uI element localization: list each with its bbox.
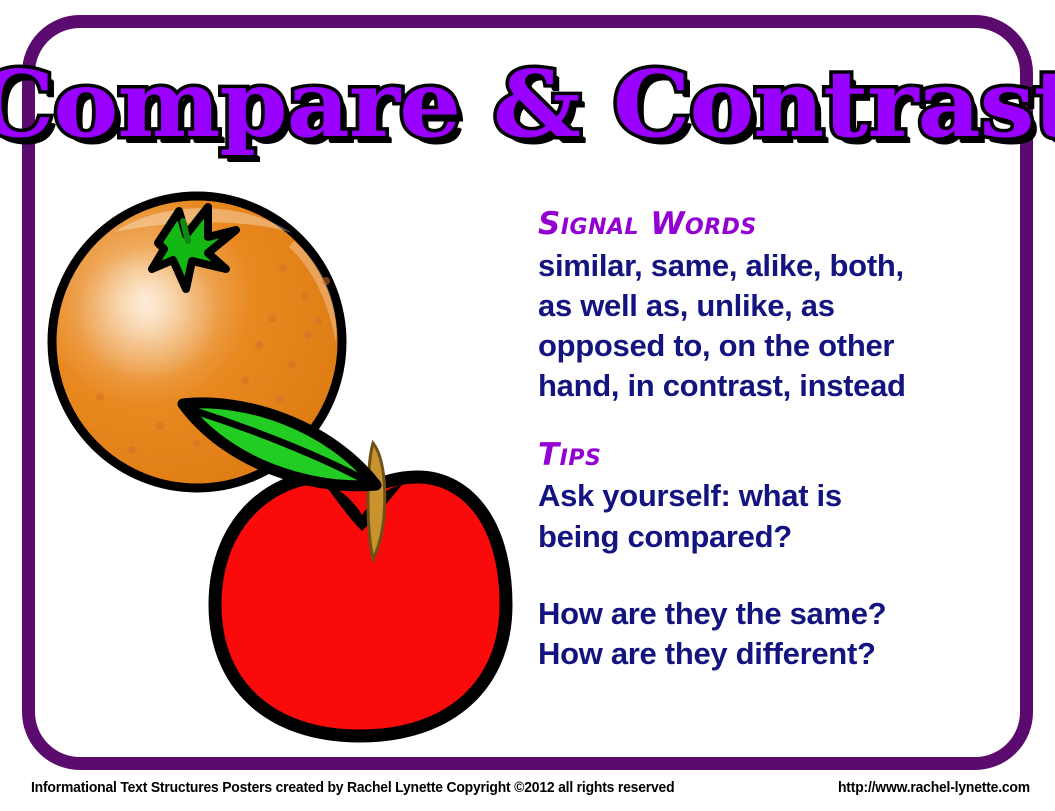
apple-fruit-group: [215, 477, 506, 736]
fruit-illustration: [40, 185, 540, 755]
signal-words-line-1: similar, same, alike, both,: [538, 246, 1008, 286]
signal-words-line-4: hand, in contrast, instead: [538, 366, 1008, 406]
signal-words-section: Signal Words similar, same, alike, both,…: [538, 208, 1008, 407]
tips-question-2: How are they different?: [538, 634, 1008, 674]
signal-words-heading: Signal Words: [538, 208, 1008, 241]
footer-url[interactable]: http://www.rachel-lynette.com: [838, 780, 1030, 796]
signal-words-line-2: as well as, unlike, as: [538, 286, 1008, 326]
poster-title-container: Compare & Contrast: [0, 58, 1055, 150]
content-text-column: Signal Words similar, same, alike, both,…: [538, 208, 1008, 674]
tips-line-1: Ask yourself: what is: [538, 476, 1008, 516]
tips-heading: Tips: [538, 439, 1008, 472]
tips-question-1: How are they the same?: [538, 594, 1008, 634]
tips-section: Tips Ask yourself: what is being compare…: [538, 439, 1008, 675]
tips-questions-group: How are they the same? How are they diff…: [538, 594, 1008, 675]
signal-words-line-3: opposed to, on the other: [538, 326, 1008, 366]
footer: Informational Text Structures Posters cr…: [0, 776, 1055, 806]
poster-canvas: Compare & Contrast: [0, 0, 1055, 811]
page-title: Compare & Contrast: [0, 58, 1055, 150]
tips-line-2: being compared?: [538, 517, 1008, 557]
footer-credit-text: Informational Text Structures Posters cr…: [31, 780, 674, 796]
